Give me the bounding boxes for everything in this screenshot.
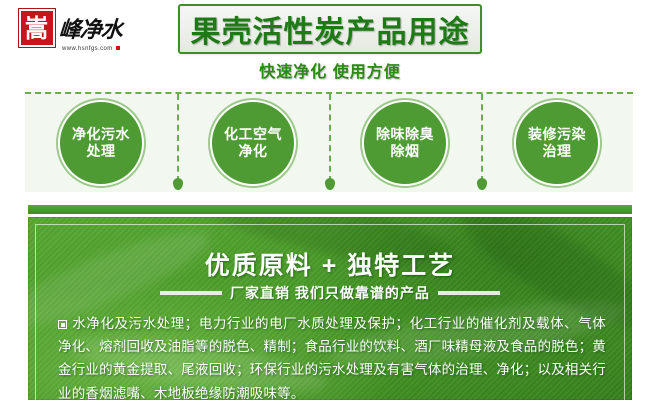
use-case-badge-wastewater[interactable]: 净化污水 处理	[58, 100, 144, 186]
use-case-badge-chemical-air[interactable]: 化工空气 净化	[210, 100, 296, 186]
panel-body-text: 水净化及污水处理；电力行业的电厂水质处理及保护；化工行业的催化剂及载体、气体净化…	[58, 312, 606, 400]
company-logo[interactable]: 嵩 峰净水 www.hsnfgs.com	[18, 8, 168, 60]
logo-seal-char: 嵩	[25, 16, 48, 41]
divider-dashed-line	[329, 94, 331, 182]
page-header: 嵩 峰净水 www.hsnfgs.com 果壳活性炭产品用途 快速净化 使用方便	[0, 0, 660, 92]
panel-subline: 厂家直销 我们只做靠谱的产品	[28, 283, 632, 303]
panel-subline-text: 厂家直销 我们只做靠谱的产品	[230, 283, 430, 303]
square-bullet-icon	[58, 320, 67, 329]
divider-2	[329, 94, 331, 194]
page-subtitle: 快速净化 使用方便	[0, 58, 660, 82]
rule-left-icon	[160, 291, 222, 295]
pin-drop-icon	[477, 178, 487, 190]
divider-3	[481, 94, 483, 194]
red-square-icon	[116, 46, 120, 50]
logo-url-text: www.hsnfgs.com	[62, 46, 113, 52]
divider-1	[177, 94, 179, 194]
use-case-badge-odor-removal[interactable]: 除味除臭 除烟	[362, 100, 448, 186]
title-banner: 果壳活性炭产品用途	[178, 4, 482, 54]
description-panel: 优质原料 + 独特工艺 厂家直销 我们只做靠谱的产品 水净化及污水处理；电力行业…	[28, 217, 632, 400]
use-case-badge-decoration-pollution[interactable]: 装修污染 治理	[514, 100, 600, 186]
pin-drop-icon	[325, 178, 335, 190]
panel-top-bar	[28, 205, 632, 214]
panel-heading: 优质原料 + 独特工艺	[28, 246, 632, 282]
badge-label: 装修污染 治理	[528, 126, 586, 161]
pin-drop-icon	[173, 178, 183, 190]
logo-wordmark: 峰净水	[58, 12, 123, 44]
use-cases-row: 净化污水 处理 化工空气 净化 除味除臭 除烟 装修污染 治理	[25, 94, 633, 192]
divider-dashed-line	[177, 94, 179, 182]
panel-body-content: 水净化及污水处理；电力行业的电厂水质处理及保护；化工行业的催化剂及载体、气体净化…	[58, 316, 606, 400]
use-cases-strip: 净化污水 处理 化工空气 净化 除味除臭 除烟 装修污染 治理	[25, 92, 633, 192]
badge-label: 化工空气 净化	[224, 126, 282, 161]
badge-label: 净化污水 处理	[72, 126, 130, 161]
rule-right-icon	[438, 291, 500, 295]
logo-website-url: www.hsnfgs.com	[62, 46, 120, 52]
logo-seal-icon: 嵩	[18, 8, 56, 48]
page-title: 果壳活性炭产品用途	[191, 7, 470, 51]
divider-dashed-line	[481, 94, 483, 182]
badge-label: 除味除臭 除烟	[376, 126, 434, 161]
